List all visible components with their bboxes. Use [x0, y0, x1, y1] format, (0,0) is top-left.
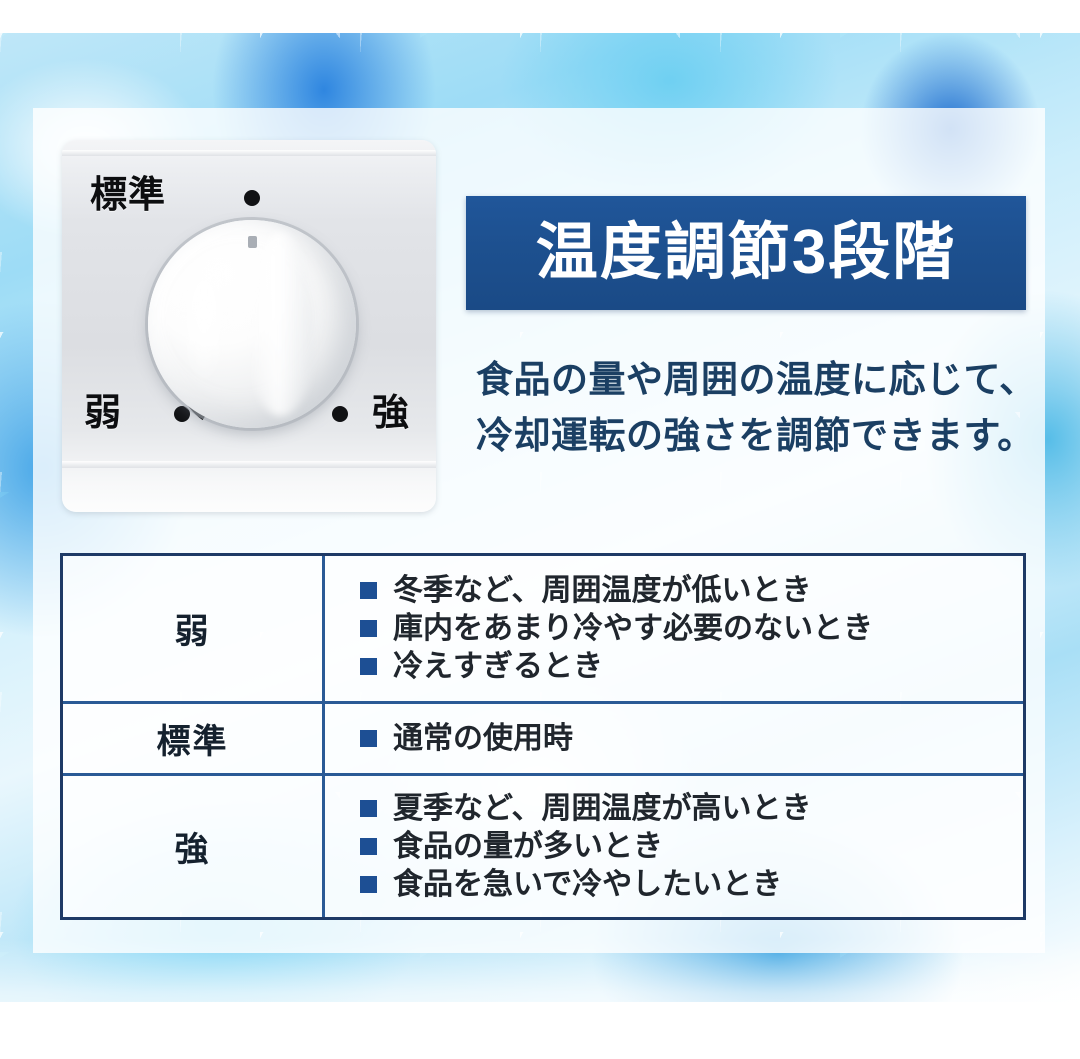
dial-panel-top-edge [62, 150, 436, 156]
list-item: 食品を急いで冷やしたいとき [360, 866, 1023, 904]
description-line-1: 食品の量や周囲の温度に応じて、 [476, 352, 1036, 408]
table-cell-level: 標準 [63, 704, 325, 773]
list-item: 食品の量が多いとき [360, 828, 1023, 866]
dot-marker-standard [244, 190, 260, 206]
dial-label-standard: 標準 [90, 176, 166, 213]
condition-text: 冷えすぎるとき [393, 652, 603, 682]
table-row: 強 夏季など、周囲温度が高いとき 食品の量が多いとき 食品を急いで冷やしたいとき [63, 773, 1023, 917]
square-bullet-icon [360, 620, 377, 637]
list-item: 冷えすぎるとき [360, 648, 1023, 686]
condition-text: 夏季など、周囲温度が高いとき [393, 794, 812, 824]
condition-text: 食品の量が多いとき [393, 832, 663, 862]
dial-knob[interactable] [148, 220, 356, 428]
knob-highlight-secondary [177, 241, 231, 387]
product-infographic: 標準 弱 強 温度調節3段階 食品の量や周囲の温度に応じて、 冷却運転の強さを調… [0, 0, 1080, 1059]
table-row: 弱 冬季など、周囲温度が低いとき 庫内をあまり冷やす必要のないとき 冷えすぎると… [63, 556, 1023, 701]
knob-pointer-icon [248, 236, 257, 248]
table-cell-conditions: 通常の使用時 [325, 704, 1023, 773]
table-cell-conditions: 夏季など、周囲温度が高いとき 食品の量が多いとき 食品を急いで冷やしたいとき [325, 776, 1023, 917]
level-label: 強 [175, 822, 211, 871]
condition-text: 通常の使用時 [393, 724, 573, 754]
list-item: 冬季など、周囲温度が低いとき [360, 572, 1023, 610]
dial-label-high: 強 [372, 394, 410, 431]
description-text: 食品の量や周囲の温度に応じて、 冷却運転の強さを調節できます。 [476, 352, 1036, 463]
page-title: 温度調節3段階 [536, 222, 956, 284]
table-cell-conditions: 冬季など、周囲温度が低いとき 庫内をあまり冷やす必要のないとき 冷えすぎるとき [325, 556, 1023, 701]
list-item: 通常の使用時 [360, 720, 1023, 758]
condition-text: 冬季など、周囲温度が低いとき [393, 576, 812, 606]
level-label: 標準 [157, 714, 229, 763]
square-bullet-icon [360, 582, 377, 599]
table-cell-level: 弱 [63, 556, 325, 701]
condition-text: 庫内をあまり冷やす必要のないとき [393, 614, 873, 644]
condition-text: 食品を急いで冷やしたいとき [393, 870, 782, 900]
temperature-dial-photo: 標準 弱 強 [62, 140, 436, 512]
dot-marker-high [332, 406, 348, 422]
square-bullet-icon [360, 658, 377, 675]
level-label: 弱 [175, 604, 211, 653]
dial-panel-bottom-edge [62, 461, 436, 468]
square-bullet-icon [360, 838, 377, 855]
list-item: 庫内をあまり冷やす必要のないとき [360, 610, 1023, 648]
settings-table: 弱 冬季など、周囲温度が低いとき 庫内をあまり冷やす必要のないとき 冷えすぎると… [60, 553, 1026, 920]
square-bullet-icon [360, 730, 377, 747]
square-bullet-icon [360, 800, 377, 817]
table-cell-level: 強 [63, 776, 325, 917]
dial-label-low: 弱 [84, 394, 122, 431]
table-row: 標準 通常の使用時 [63, 701, 1023, 773]
background-bottom-fade [0, 939, 1080, 1059]
square-bullet-icon [360, 876, 377, 893]
top-white-margin [0, 0, 1080, 33]
list-item: 夏季など、周囲温度が高いとき [360, 790, 1023, 828]
description-line-2: 冷却運転の強さを調節できます。 [476, 408, 1036, 464]
knob-highlight [248, 232, 315, 415]
title-banner: 温度調節3段階 [466, 196, 1026, 310]
